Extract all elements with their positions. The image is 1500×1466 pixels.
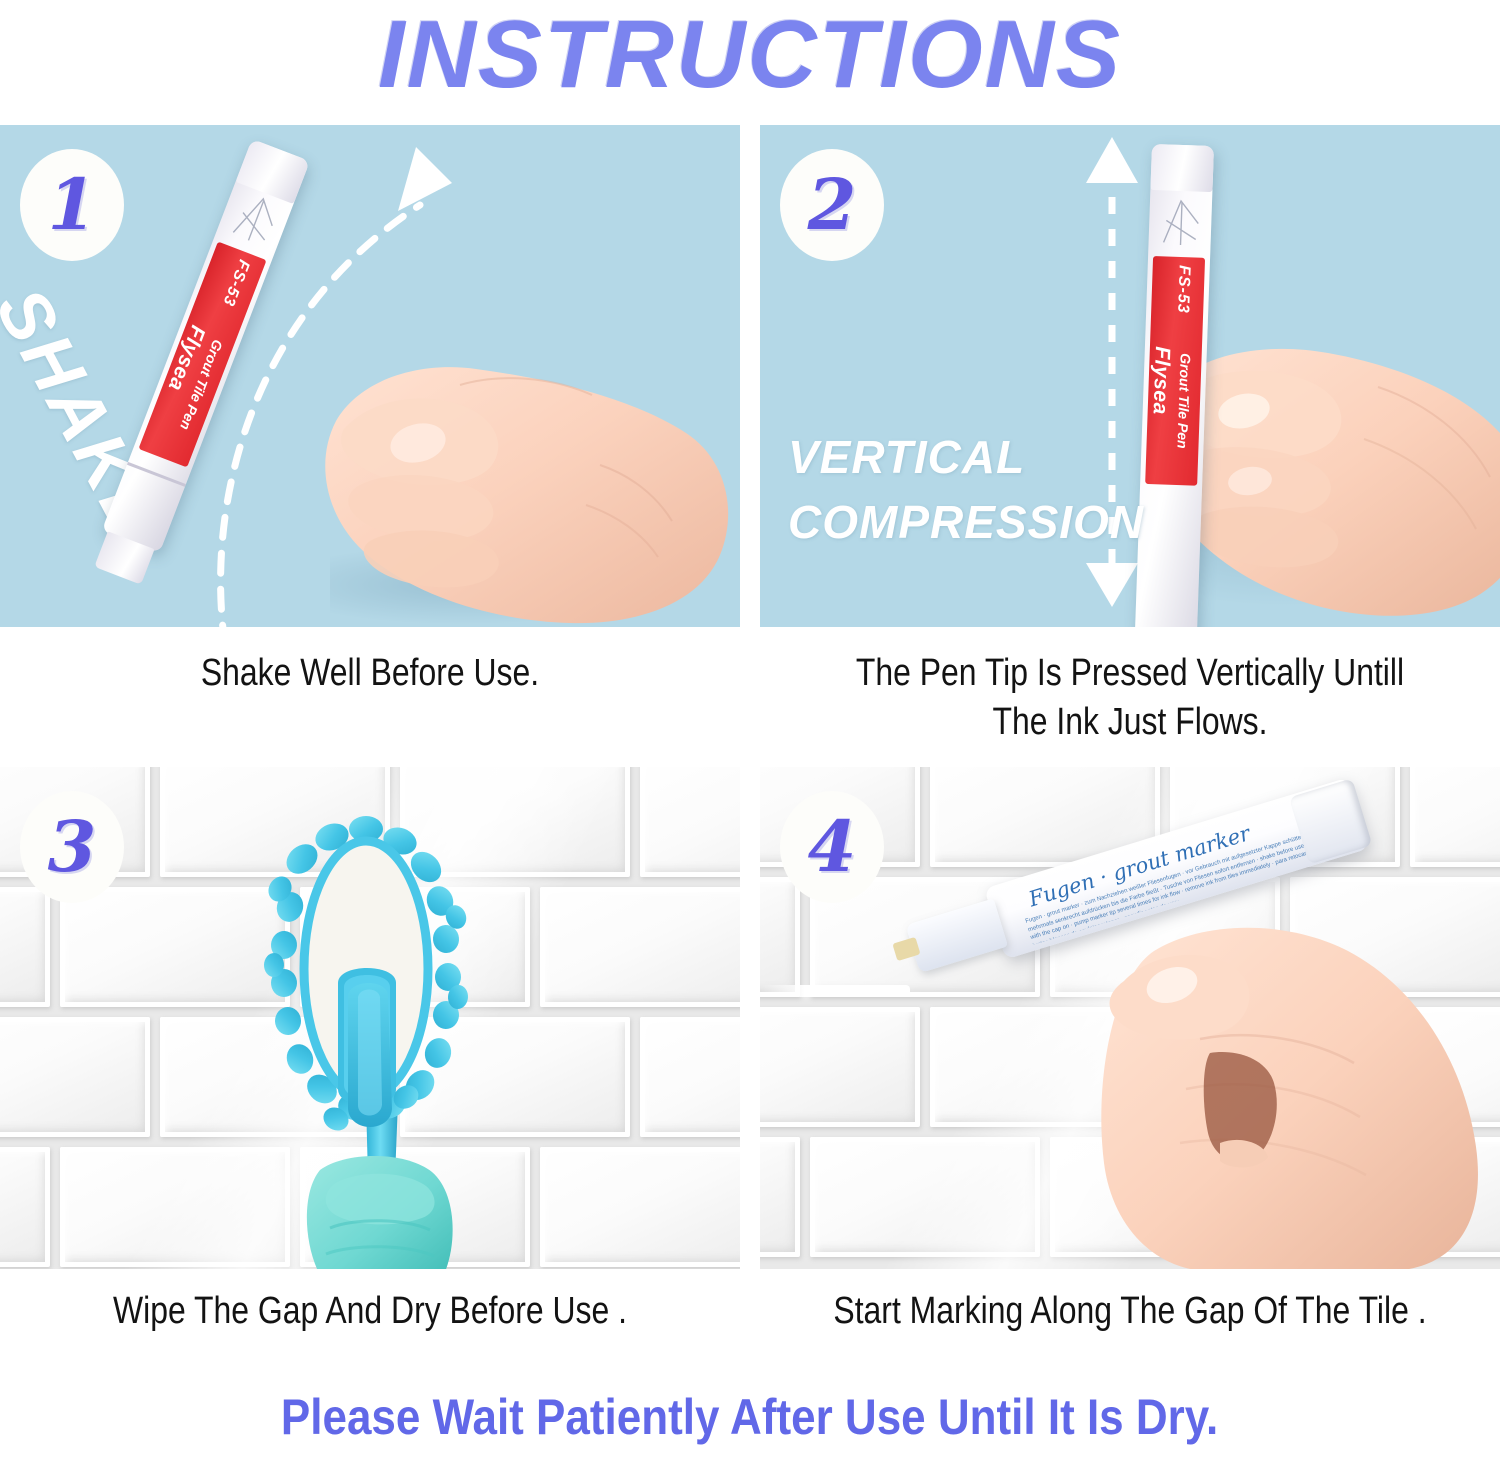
caption-line-2: The Ink Just Flows. xyxy=(819,698,1441,747)
grout-mark-stroke xyxy=(760,985,910,997)
step-2-caption: The Pen Tip Is Pressed Vertically Untill… xyxy=(819,627,1441,767)
step-2-number-badge: 2 xyxy=(780,149,884,261)
pen-cap xyxy=(1150,144,1214,192)
overlay-label-line-1: VERTICAL xyxy=(788,425,1144,490)
step-1-caption: Shake Well Before Use. xyxy=(59,627,681,767)
caption-line: Start Marking Along The Gap Of The Tile … xyxy=(819,1287,1441,1336)
pen-model-text: FS-53 xyxy=(1173,265,1193,314)
instruction-steps-grid: 1 SHAKE xyxy=(0,125,1500,1364)
page-title: INSTRUCTIONS xyxy=(378,7,1122,103)
step-number-text: 1 xyxy=(48,170,97,240)
step-3-caption: Wipe The Gap And Dry Before Use . xyxy=(59,1269,681,1364)
step-3: 3 xyxy=(0,767,740,1364)
pen-red-label: FS-53 Flysea Grout Tile Pen xyxy=(1145,256,1205,486)
step-4-caption: Start Marking Along The Gap Of The Tile … xyxy=(819,1269,1441,1364)
step-4-image: 4 Fugen · grout marker Fugen · grout mar… xyxy=(760,767,1500,1269)
caption-line: Shake Well Before Use. xyxy=(59,649,681,698)
pen-brand-text: Flysea xyxy=(1148,346,1174,415)
pen-seam xyxy=(127,462,186,487)
footer-text: Please Wait Patiently After Use Until It… xyxy=(281,1388,1218,1446)
step-3-number-badge: 3 xyxy=(20,791,124,903)
step-number-text: 3 xyxy=(48,812,97,882)
step-number-text: 2 xyxy=(808,170,857,240)
caption-line-1: The Pen Tip Is Pressed Vertically Untill xyxy=(819,649,1441,698)
step-3-image: 3 xyxy=(0,767,740,1269)
caption-line: Wipe The Gap And Dry Before Use . xyxy=(59,1287,681,1336)
step-1: 1 SHAKE xyxy=(0,125,740,767)
pen-description-text: Grout Tile Pen xyxy=(1174,353,1193,449)
steps-row-top: 1 SHAKE xyxy=(0,125,1500,767)
step-4: 4 Fugen · grout marker Fugen · grout mar… xyxy=(760,767,1500,1364)
steps-row-bottom: 3 xyxy=(0,767,1500,1364)
footer-note: Please Wait Patiently After Use Until It… xyxy=(0,1388,1500,1446)
step-2-image: 2 VERTICAL COMPRESSION xyxy=(760,125,1500,627)
step-1-number-badge: 1 xyxy=(20,149,124,261)
step-number-text: 4 xyxy=(808,812,857,882)
step-4-number-badge: 4 xyxy=(780,791,884,903)
pen-graphic-scribble xyxy=(1159,196,1203,249)
step-1-image: 1 SHAKE xyxy=(0,125,740,627)
step-2: 2 VERTICAL COMPRESSION xyxy=(760,125,1500,767)
overlay-label-line-2: COMPRESSION xyxy=(788,490,1144,555)
hand-holding-marker xyxy=(1060,907,1500,1269)
page-header: INSTRUCTIONS xyxy=(0,0,1500,110)
vertical-compression-overlay-label: VERTICAL COMPRESSION xyxy=(788,425,1144,556)
hand-holding-pen xyxy=(300,325,740,627)
pen-model-text: FS-53 xyxy=(218,257,252,309)
microfiber-duster xyxy=(240,797,490,1152)
